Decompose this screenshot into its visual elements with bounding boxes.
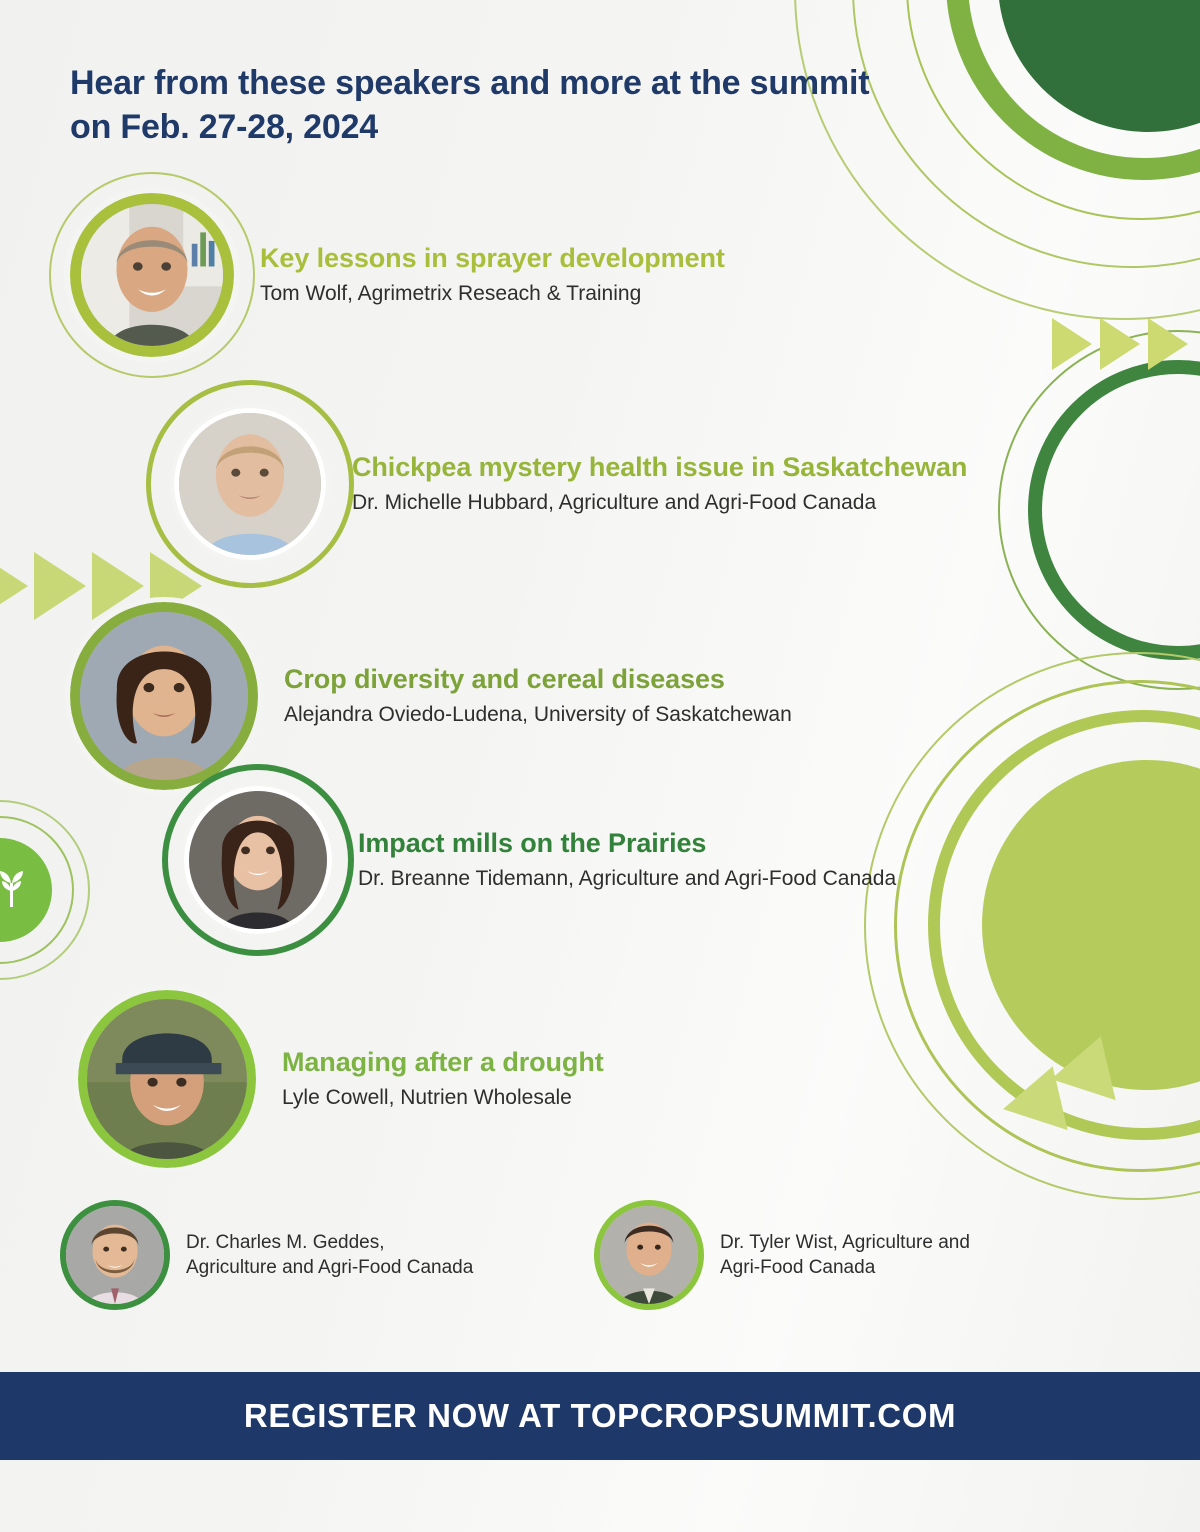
avatar-tyler-wist: [600, 1206, 698, 1304]
arc-right-mid-ring-green: [1028, 360, 1200, 660]
speaker-name: Alejandra Oviedo-Ludena, University of S…: [284, 702, 792, 727]
mini-avatar-group: [600, 1206, 698, 1304]
mini-speaker-text: Dr. Charles M. Geddes, Agriculture and A…: [186, 1230, 473, 1280]
speaker-row: Chickpea mystery health issue in Saskatc…: [174, 408, 967, 560]
speaker-row: Key lessons in sprayer development Tom W…: [70, 193, 725, 357]
speaker-avatar-group: [174, 408, 326, 560]
speaker-text: Crop diversity and cereal diseases Aleja…: [284, 664, 792, 727]
speaker-row: Managing after a drought Lyle Cowell, Nu…: [78, 990, 604, 1168]
triangle-arrow-icon: [1148, 318, 1188, 370]
triangle-arrow-icon: [1051, 1026, 1133, 1100]
speaker-avatar-group: [78, 990, 256, 1168]
mini-speaker-line-1: Dr. Tyler Wist, Agriculture and: [720, 1230, 970, 1255]
mini-speaker-text: Dr. Tyler Wist, Agriculture and Agri-Foo…: [720, 1230, 970, 1280]
speaker-avatar-group: [70, 602, 258, 790]
speaker-title: Crop diversity and cereal diseases: [284, 664, 792, 695]
speaker-name: Dr. Michelle Hubbard, Agriculture and Ag…: [352, 490, 967, 515]
speaker-name: Lyle Cowell, Nutrien Wholesale: [282, 1085, 604, 1110]
register-banner[interactable]: REGISTER NOW AT TOPCROPSUMMIT.COM: [0, 1372, 1200, 1460]
arc-lower-right-ring-3: [864, 652, 1200, 1200]
triangle-arrow-icon: [1003, 1056, 1085, 1130]
speaker-name: Tom Wolf, Agrimetrix Reseach & Training: [260, 281, 725, 306]
mini-speaker-row: Dr. Tyler Wist, Agriculture and Agri-Foo…: [600, 1206, 970, 1304]
mini-speaker-line-2: Agri-Food Canada: [720, 1255, 970, 1280]
headline-line-2: on Feb. 27-28, 2024: [70, 106, 1000, 150]
headline-line-1: Hear from these speakers and more at the…: [70, 62, 1000, 106]
triangle-arrow-icon: [0, 552, 28, 620]
mini-speaker-row: Dr. Charles M. Geddes, Agriculture and A…: [66, 1206, 473, 1304]
avatar-michelle-hubbard: [174, 408, 326, 560]
speaker-title: Managing after a drought: [282, 1047, 604, 1078]
register-cta-text: REGISTER NOW AT TOPCROPSUMMIT.COM: [244, 1397, 956, 1435]
page-title: Hear from these speakers and more at the…: [70, 62, 1000, 149]
mini-speaker-line-1: Dr. Charles M. Geddes,: [186, 1230, 473, 1255]
speaker-title: Impact mills on the Prairies: [358, 828, 896, 859]
poster-canvas: Hear from these speakers and more at the…: [0, 0, 1200, 1532]
speaker-avatar-group: [70, 193, 234, 357]
badge-ring-outer: [0, 800, 90, 980]
wheat-icon: [0, 838, 52, 942]
speaker-row: Crop diversity and cereal diseases Aleja…: [70, 602, 792, 790]
arc-lower-right-disc-lime: [982, 760, 1200, 1090]
avatar-lyle-cowell: [78, 990, 256, 1168]
avatar-alejandra-oviedo-ludena: [70, 602, 258, 790]
speaker-text: Key lessons in sprayer development Tom W…: [260, 243, 725, 306]
arc-ring-outer-5: [794, 0, 1200, 320]
arc-lower-right-ring-1: [928, 710, 1200, 1140]
speaker-text: Managing after a drought Lyle Cowell, Nu…: [282, 1047, 604, 1110]
speaker-title: Chickpea mystery health issue in Saskatc…: [352, 452, 967, 483]
speaker-title: Key lessons in sprayer development: [260, 243, 725, 274]
speaker-name: Dr. Breanne Tidemann, Agriculture and Ag…: [358, 866, 896, 891]
mini-avatar-group: [66, 1206, 164, 1304]
arc-disc-dark-green: [998, 0, 1200, 132]
arc-lower-right-ring-2: [894, 680, 1200, 1172]
speaker-row: Impact mills on the Prairies Dr. Breanne…: [184, 786, 896, 934]
speaker-text: Chickpea mystery health issue in Saskatc…: [352, 452, 967, 515]
avatar-charles-geddes: [66, 1206, 164, 1304]
avatar-tom-wolf: [70, 193, 234, 357]
badge-ring-inner: [0, 816, 74, 964]
triangle-arrow-icon: [1052, 318, 1092, 370]
arc-right-mid-ring-thin: [998, 330, 1200, 690]
mini-speaker-line-2: Agriculture and Agri-Food Canada: [186, 1255, 473, 1280]
speaker-avatar-group: [184, 786, 332, 934]
avatar-breanne-tidemann: [184, 786, 332, 934]
triangle-arrow-icon: [1100, 318, 1140, 370]
speaker-text: Impact mills on the Prairies Dr. Breanne…: [358, 828, 896, 891]
